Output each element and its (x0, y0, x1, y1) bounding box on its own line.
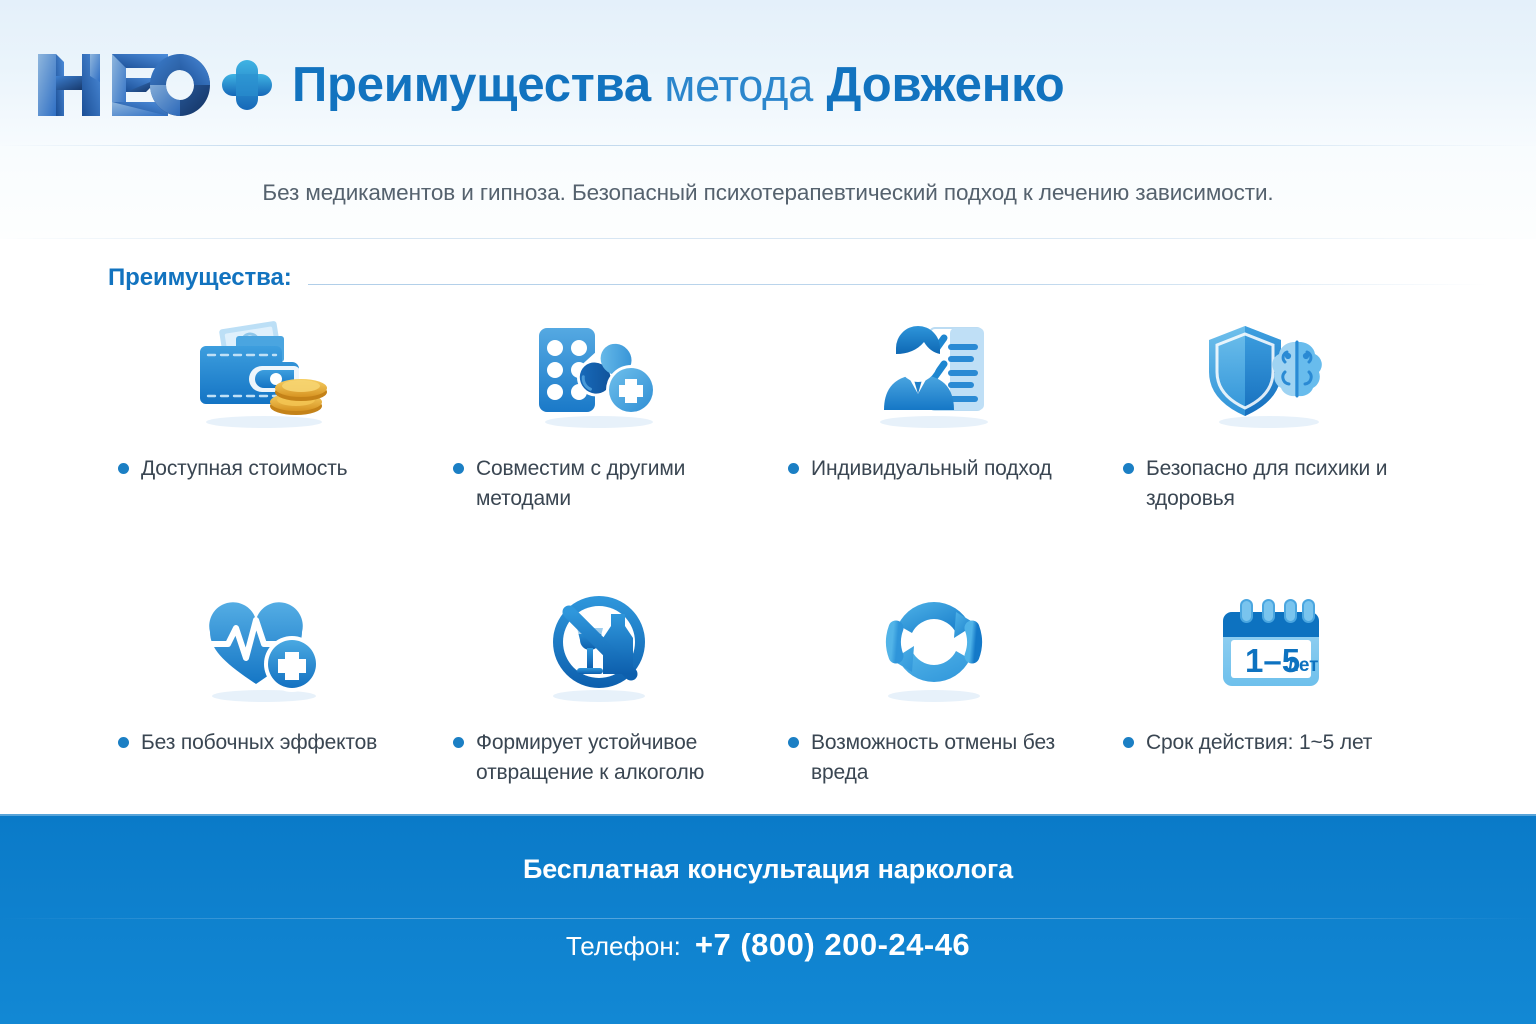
benefit-label: Индивидуальный подход (811, 454, 1052, 484)
bullet-icon (453, 737, 464, 748)
bullet-icon (118, 463, 129, 474)
page-title-part-1: Преимущества (292, 58, 651, 112)
benefit-label: Формирует устойчивое отвращение к алкого… (476, 728, 724, 788)
benefit-label-row: Совместим с другими методами (431, 454, 766, 514)
header-band: Преимущества метода Довженко (0, 0, 1536, 146)
footer-band: Бесплатная консультация нарколога Телефо… (0, 814, 1536, 1024)
bullet-icon (788, 737, 799, 748)
phone-label: Телефон: (566, 931, 681, 962)
benefit-label: Срок действия: 1~5 лет (1146, 728, 1372, 758)
footer-phone-row: Телефон: +7 (800) 200-24-46 (566, 927, 970, 963)
benefit-item: Формирует устойчивое отвращение к алкого… (431, 586, 766, 788)
bullet-icon (1123, 463, 1134, 474)
calendar-icon: 1–5 лет (1101, 586, 1436, 704)
benefit-item: Индивидуальный подход (766, 312, 1101, 514)
benefit-label-row: Доступная стоимость (96, 454, 431, 484)
phone-number[interactable]: +7 (800) 200-24-46 (695, 927, 970, 963)
shield-brain-icon (1101, 312, 1436, 430)
benefit-label-row: Срок действия: 1~5 лет (1101, 728, 1436, 758)
benefit-label: Без побочных эффектов (141, 728, 377, 758)
page-title-part-2: метода (664, 60, 813, 111)
section-heading-rule (308, 284, 1488, 285)
benefits-grid: Доступная стоимость (96, 312, 1436, 788)
benefit-item: Безопасно для психики и здоровья (1101, 312, 1436, 514)
benefit-label-row: Формирует устойчивое отвращение к алкого… (431, 728, 766, 788)
benefit-label: Безопасно для психики и здоровья (1146, 454, 1394, 514)
benefit-item: Без побочных эффектов (96, 586, 431, 788)
infographic-poster: Преимущества метода Довженко Без медикам… (0, 0, 1536, 1024)
pills-blister-plus-icon (431, 312, 766, 430)
bullet-icon (453, 463, 464, 474)
benefit-label-row: Индивидуальный подход (766, 454, 1101, 484)
benefit-item: Доступная стоимость (96, 312, 431, 514)
no-alcohol-icon (431, 586, 766, 704)
calendar-unit-text: лет (1287, 655, 1318, 676)
refresh-arrows-icon (766, 586, 1101, 704)
neo-plus-logo (34, 48, 274, 122)
benefit-item: Возможность отмены без вреда (766, 586, 1101, 788)
heart-pulse-plus-icon (96, 586, 431, 704)
page-title-part-3: Довженко (826, 58, 1064, 112)
subtitle-band: Без медикаментов и гипноза. Безопасный п… (0, 146, 1536, 239)
benefit-label-row: Возможность отмены без вреда (766, 728, 1101, 788)
subtitle-text: Без медикаментов и гипноза. Безопасный п… (262, 180, 1273, 206)
bullet-icon (788, 463, 799, 474)
benefit-label: Совместим с другими методами (476, 454, 724, 514)
benefit-label-row: Без побочных эффектов (96, 728, 431, 758)
wallet-coins-icon (96, 312, 431, 430)
benefit-label: Доступная стоимость (141, 454, 347, 484)
section-heading: Преимущества: (108, 258, 1488, 298)
benefit-label-row: Безопасно для психики и здоровья (1101, 454, 1436, 514)
doctor-checklist-icon (766, 312, 1101, 430)
benefit-label: Возможность отмены без вреда (811, 728, 1059, 788)
footer-divider (0, 918, 1536, 919)
section-heading-label: Преимущества: (108, 264, 292, 292)
footer-title: Бесплатная консультация нарколога (523, 854, 1013, 885)
benefit-item: Совместим с другими методами (431, 312, 766, 514)
bullet-icon (1123, 737, 1134, 748)
bullet-icon (118, 737, 129, 748)
benefit-item: 1–5 лет Срок действия: 1~5 лет (1101, 586, 1436, 788)
page-title: Преимущества метода Довженко (292, 52, 1065, 119)
